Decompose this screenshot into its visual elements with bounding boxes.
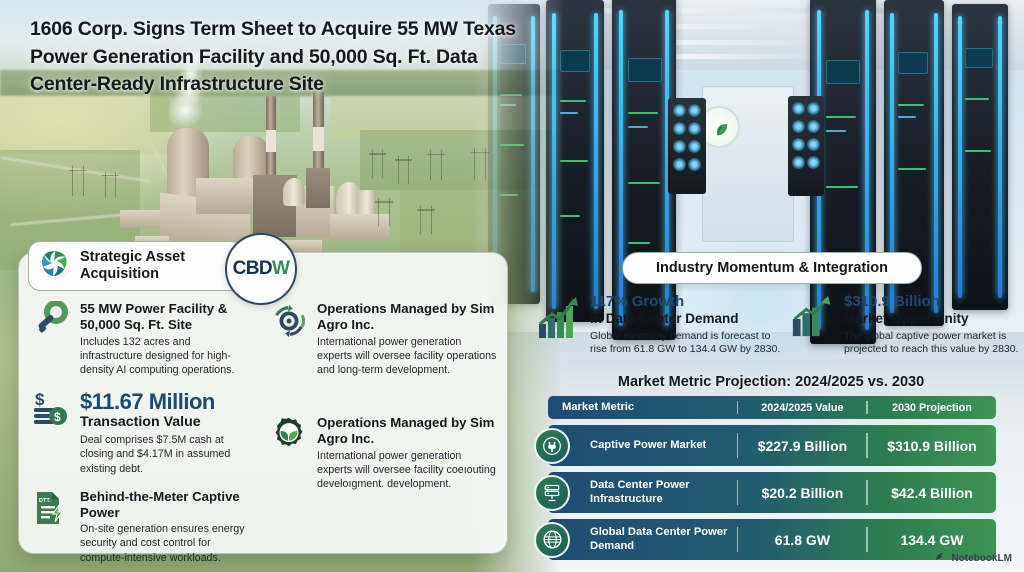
feature-body: On-site generation ensures energy securi… [80,522,254,564]
table-row: Global Data Center Power Demand 61.8 GW … [548,519,996,560]
storage-tank [358,190,376,216]
card-header-label: Strategic Asset Acquisition [80,249,242,283]
cbdw-badge: CBDW [225,233,297,305]
feature-item-operations-1: Operations Managed by Sim Agro Inc. Inte… [270,301,499,377]
transmission-pylon [430,150,442,180]
feature-heading: Operations Managed by Sim Agro Inc. [317,415,499,447]
svg-text:$: $ [54,410,61,424]
feature-body: International power generation experts w… [317,449,499,491]
column-header-metric: Market Metric [548,401,737,414]
column-header-2024: 2024/2025 Value [738,402,866,414]
row-value-2030: $42.4 Billion [868,485,996,501]
table-row: Data Center Power Infrastructure $20.2 B… [548,472,996,513]
feature-heading: 55 MW Power Facility & 50,000 Sq. Ft. Si… [80,301,254,333]
cooling-fan-unit [668,98,706,194]
outbuilding [120,210,160,228]
transmission-pylon [378,198,390,226]
cooling-fan-unit [788,96,824,196]
transaction-value-label: Transaction Value [80,414,254,431]
card-column-right: Operations Managed by Sim Agro Inc. Inte… [264,301,509,572]
transmission-pylon [372,150,383,178]
plant-building [196,178,258,214]
swirl-logo-icon [38,247,72,286]
feature-body: Deal comprises $7.5M cash at closing and… [80,433,254,475]
transmission-pylon [72,166,84,196]
feature-body: Includes 132 acres and infrastructure de… [80,335,254,377]
stat-market-opportunity: $310.9 Billion Market Opportunity The gl… [790,294,1022,357]
transmission-pylon [105,172,116,198]
notebooklm-label: NotebookLM [951,553,1012,564]
feature-item-power-facility: 55 MW Power Facility & 50,000 Sq. Ft. Si… [33,301,254,377]
server-rack [612,0,676,340]
cbdw-badge-part1: CBD [233,258,272,280]
table-header-row: Market Metric 2024/2025 Value 2030 Proje… [548,396,996,419]
row-metric-label: Global Data Center Power Demand [548,526,737,552]
globe-icon [534,522,570,558]
stat-value: $310.9 Billion [844,294,1022,311]
column-header-2030: 2030 Projection [868,402,996,414]
document-bolt-icon: DTT. [33,489,71,529]
stat-subheading: in Data Center Demand [590,311,739,326]
field [0,96,170,154]
feature-heading: Behind-the-Meter Captive Power [80,489,254,521]
infographic-canvas: 1606 Corp. Signs Term Sheet to Acquire 5… [0,0,1024,572]
row-value-2024: $227.9 Billion [738,438,866,454]
notebooklm-icon [934,550,947,566]
stat-subheading: Market Opportunity [844,311,969,326]
card-header: Strategic Asset Acquisition [28,241,243,291]
gear-leaf-icon [270,415,308,455]
storage-tank [283,178,305,206]
notebooklm-watermark: NotebookLM [934,550,1012,566]
bar-chart-up-arrow-icon [536,294,582,342]
transmission-pylon [420,206,432,234]
row-metric-label: Data Center Power Infrastructure [548,479,737,505]
feature-item-captive-power: DTT. Behind-the-Meter Captive Power On-s… [33,489,254,565]
transaction-value: $11.67 Million [80,390,254,414]
stat-body: The global captive power market is proje… [844,330,1022,357]
row-value-2024: 61.8 GW [738,532,866,548]
feature-item-operations-2: Operations Managed by Sim Agro Inc. Inte… [270,415,499,491]
stat-data-center-growth: 117% Growth in Data Center Demand Global… [536,294,784,357]
row-value-2030: $310.9 Billion [868,438,996,454]
money-stack-icon: $ $ [33,390,71,430]
market-metric-table: Market Metric 2024/2025 Value 2030 Proje… [548,396,996,566]
table-title: Market Metric Projection: 2024/2025 vs. … [536,374,1006,390]
stat-value: 117% Growth [590,294,784,311]
table-row: Captive Power Market $227.9 Billion $310… [548,425,996,466]
key-icon [33,301,71,341]
server-rack [546,0,604,322]
power-plug-icon [534,428,570,464]
feature-item-transaction-value: $ $ $11.67 Million Transaction Value Dea… [33,390,254,476]
feature-body: International power generation experts w… [317,335,499,377]
strategic-asset-acquisition-card: Strategic Asset Acquisition CBDW [18,252,508,554]
feature-heading: Operations Managed by Sim Agro Inc. [317,301,499,333]
server-rack-icon [534,475,570,511]
row-value-2024: $20.2 Billion [738,485,866,501]
plant-building [306,168,330,208]
stat-body: Global electricity demand is forecast to… [590,330,784,357]
svg-text:DTT.: DTT. [39,498,51,504]
bar-chart-arrow-icon [790,294,836,342]
transmission-pylon [398,156,409,184]
svg-text:$: $ [35,390,45,409]
page-title: 1606 Corp. Signs Term Sheet to Acquire 5… [30,16,530,99]
card-column-left: 55 MW Power Facility & 50,000 Sq. Ft. Si… [19,301,264,572]
ceiling-light [665,54,833,59]
row-value-2030: 134.4 GW [868,532,996,548]
gear-recycle-icon [270,301,308,341]
row-metric-label: Captive Power Market [548,439,737,452]
cbdw-badge-part2: W [272,258,289,280]
industry-momentum-header: Industry Momentum & Integration [622,252,922,284]
server-rack [952,4,1008,310]
